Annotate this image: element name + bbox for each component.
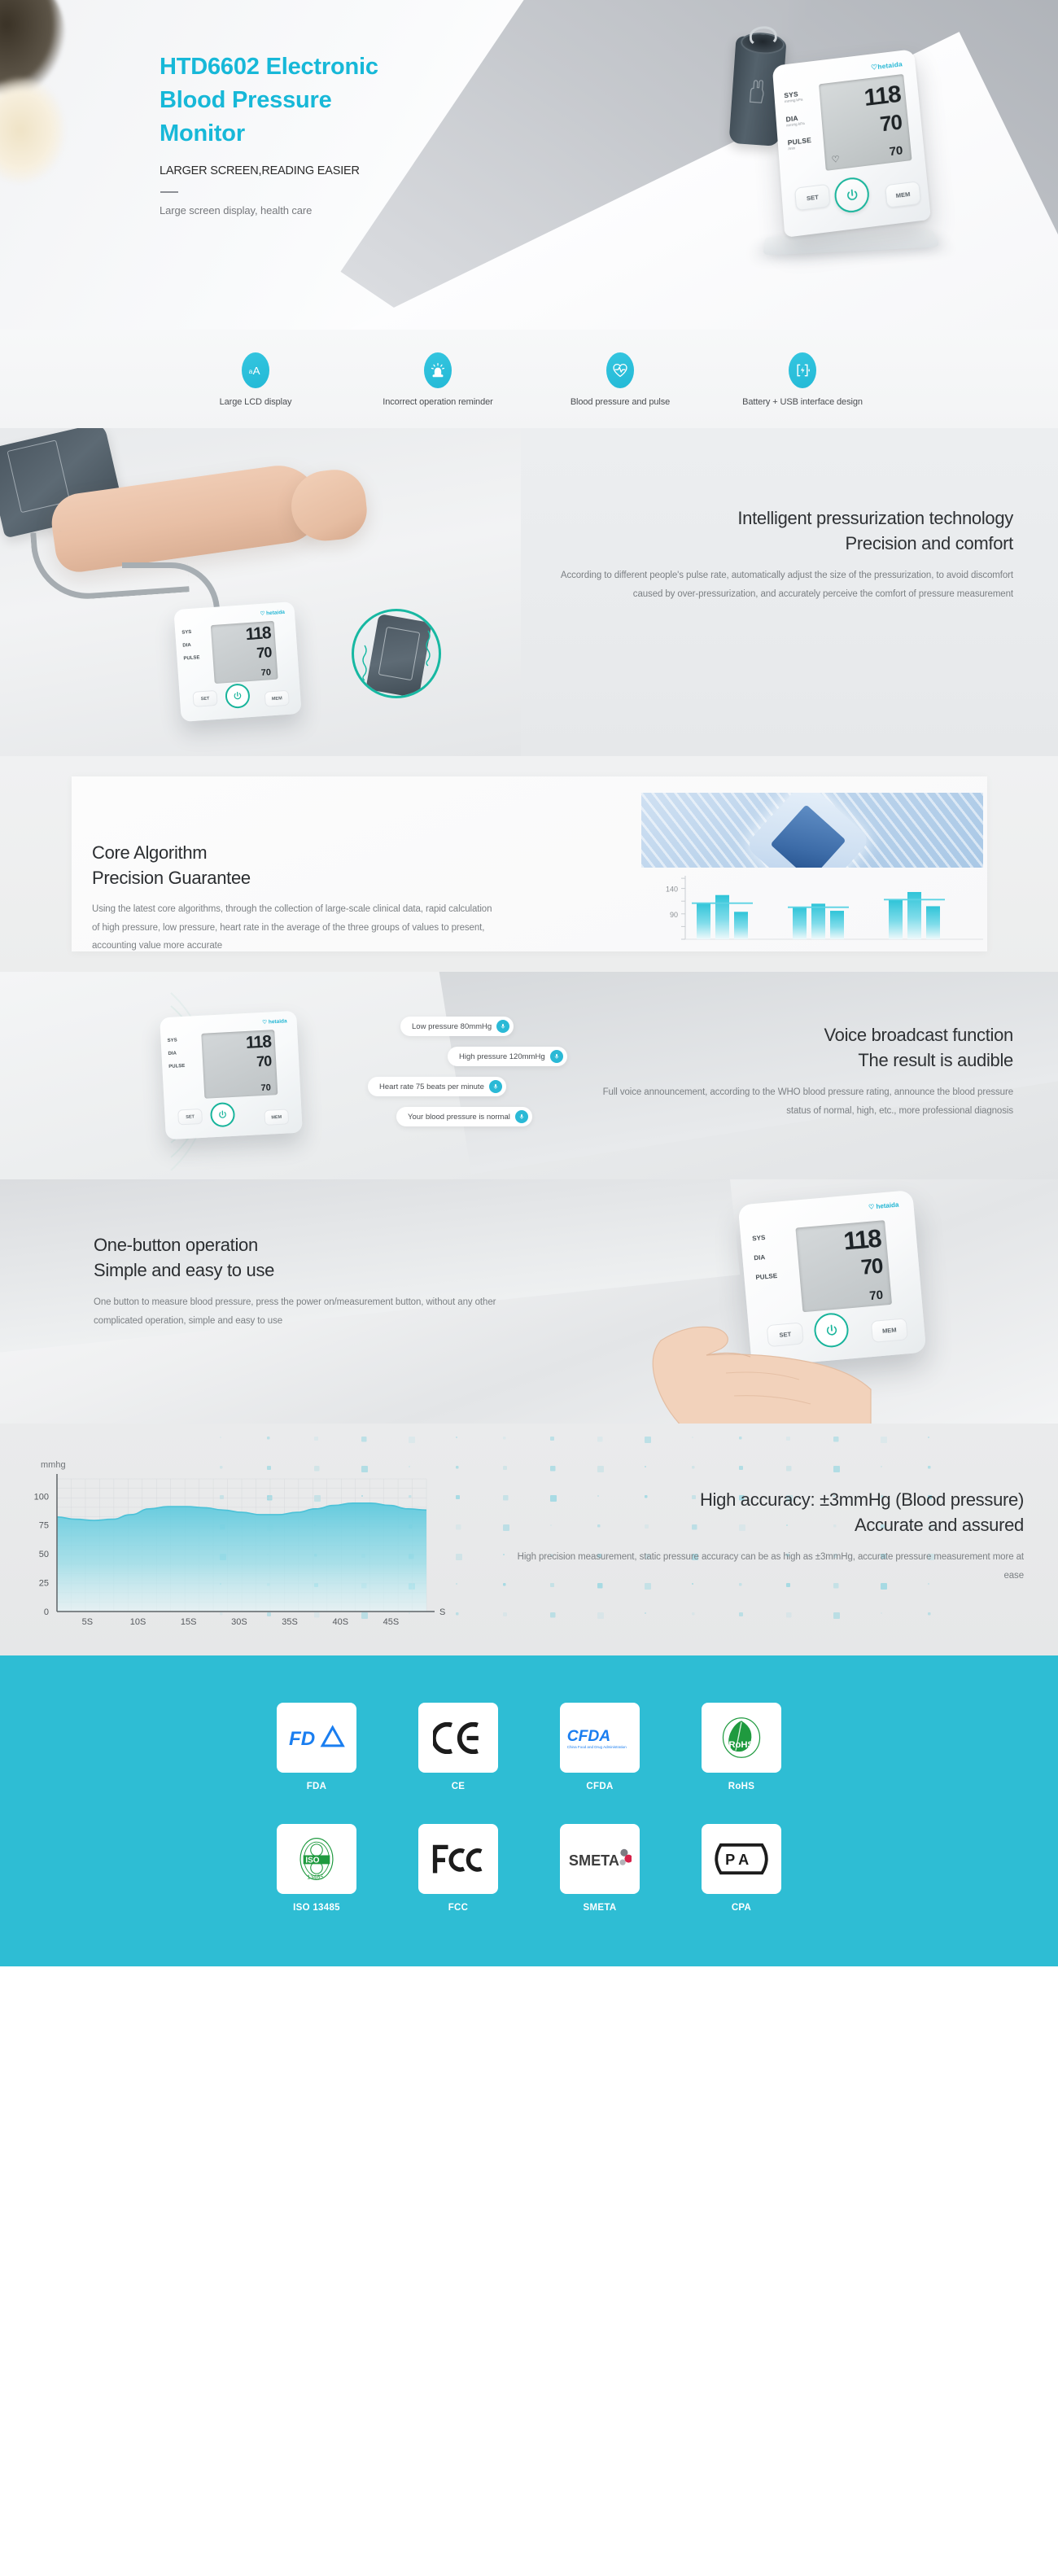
- section-heading-line1: Intelligent pressurization technology: [557, 505, 1013, 531]
- power-button[interactable]: [210, 1102, 236, 1128]
- svg-text:S: S: [439, 1607, 445, 1617]
- sys-label: SYS: [181, 629, 198, 635]
- svg-text:15S: 15S: [181, 1617, 197, 1627]
- certification-label: CPA: [696, 1903, 787, 1913]
- feature-label: Battery + USB interface design: [711, 397, 894, 407]
- svg-text:45S: 45S: [383, 1617, 400, 1627]
- section-heading-line2: The result is audible: [590, 1047, 1013, 1073]
- dia-label: DIA: [168, 1051, 184, 1056]
- hero-divider: [160, 191, 178, 193]
- voice-bubble: Your blood pressure is normal: [396, 1107, 532, 1126]
- dia-label: DIA: [182, 642, 199, 648]
- feature-item-battery: Battery + USB interface design: [711, 352, 894, 407]
- certification-fcc: FCC: [413, 1824, 504, 1913]
- certification-label: ISO 13485: [271, 1903, 362, 1913]
- svg-text:P A: P A: [725, 1852, 749, 1868]
- alarm-siren-icon: [424, 352, 452, 388]
- certification-iso: ISO 13485 ISO 13485: [271, 1824, 362, 1913]
- product-detail-page: HTD6602 Electronic Blood Pressure Monito…: [0, 0, 1058, 1966]
- svg-text:CFDA: CFDA: [567, 1728, 610, 1745]
- power-button[interactable]: [833, 176, 871, 215]
- fcc-logo: [418, 1824, 498, 1894]
- cfda-sublabel: China Food and Drug Administration: [567, 1744, 627, 1748]
- text-size-icon: a A: [242, 352, 269, 388]
- sys-label-group: SYS mmHg kPa: [784, 87, 820, 104]
- dia-value: 70: [879, 110, 903, 138]
- arm-cuff-photo: ♡ hetaida SYS DIA PULSE 118 70 70 SET: [0, 428, 521, 756]
- certification-rohs: RoHS RoHS: [696, 1703, 787, 1791]
- device-button-row: SET MEM: [794, 168, 918, 221]
- certification-label: FDA: [271, 1782, 362, 1791]
- cfda-logo: CFDA China Food and Drug Administration: [560, 1703, 640, 1773]
- brand-logo: ♡ hetaida: [260, 609, 285, 617]
- svg-text:A: A: [253, 365, 260, 377]
- one-button-text: One-button operation Simple and easy to …: [94, 1232, 517, 1330]
- feature-item-reminder: Incorrect operation reminder: [347, 352, 529, 407]
- power-icon: [217, 1109, 228, 1120]
- feature-item-lcd: a A Large LCD display: [164, 352, 347, 407]
- core-algorithm-text: Core Algorithm Precision Guarantee Using…: [92, 840, 499, 956]
- certification-label: SMETA: [554, 1903, 645, 1913]
- cuff-closeup-inset: [352, 609, 441, 698]
- svg-text:RoHS: RoHS: [728, 1740, 754, 1750]
- svg-text:35S: 35S: [282, 1617, 298, 1627]
- section-heading-line2: Precision Guarantee: [92, 865, 499, 890]
- pulse-label-group: PULSE /min: [787, 135, 824, 152]
- lcd-side-labels: SYS mmHg kPa DIA mmHg kPa PULSE /min: [784, 87, 825, 163]
- mem-button[interactable]: MEM: [264, 690, 290, 707]
- dia-label: DIA: [754, 1253, 776, 1262]
- smeta-logo: SMETA: [560, 1824, 640, 1894]
- rohs-logo: RoHS: [702, 1703, 781, 1773]
- dia-label-group: DIA mmHg kPa: [785, 111, 822, 128]
- iso-sublabel: 13485: [307, 1873, 323, 1880]
- certification-row-1: FD FDA CE CF: [0, 1703, 1058, 1791]
- accuracy-section: mmhg02550751005S10S15S30S35S40S45SS High…: [0, 1424, 1058, 1655]
- section-heading-line2: Simple and easy to use: [94, 1257, 517, 1283]
- vibration-wave-icon: [361, 644, 369, 681]
- svg-text:FD: FD: [289, 1728, 315, 1750]
- dia-value: 70: [256, 1052, 272, 1070]
- battery-charge-icon: [789, 352, 816, 388]
- lcd-side-labels: SYS DIA PULSE: [168, 1038, 186, 1078]
- pulse-value: 70: [260, 667, 271, 678]
- certification-ce: CE: [413, 1703, 504, 1791]
- pointing-hand-image: [636, 1292, 872, 1424]
- certifications-section: FD FDA CE CF: [0, 1655, 1058, 1966]
- svg-text:mmhg: mmhg: [41, 1460, 66, 1470]
- dia-value: 70: [256, 644, 272, 662]
- svg-text:40S: 40S: [332, 1617, 348, 1627]
- vibration-wave-icon: [424, 629, 432, 667]
- heart-pulse-icon: [606, 352, 634, 388]
- brand-logo: ♡hetaida: [871, 60, 903, 72]
- svg-text:50: 50: [39, 1550, 49, 1559]
- feature-label: Incorrect operation reminder: [347, 397, 529, 407]
- accuracy-text: High accuracy: ±3mmHg (Blood pressure) A…: [503, 1487, 1024, 1585]
- device-button-row: SET MEM: [177, 1099, 289, 1131]
- cuff-hand-icon: [745, 79, 767, 105]
- sys-value: 118: [863, 81, 902, 112]
- section-heading-line1: One-button operation: [94, 1232, 517, 1257]
- svg-text:10S: 10S: [130, 1617, 146, 1627]
- voice-bubble-list: Low pressure 80mmHg High pressure 120mmH…: [368, 1017, 567, 1137]
- section-body: According to different people's pulse ra…: [557, 566, 1013, 603]
- section-body: Full voice announcement, according to th…: [590, 1083, 1013, 1120]
- pulse-label: PULSE: [168, 1064, 185, 1069]
- sys-value: 118: [245, 623, 271, 645]
- svg-text:ISO: ISO: [305, 1857, 319, 1865]
- dia-value: 70: [860, 1253, 884, 1280]
- core-algorithm-section: Core Algorithm Precision Guarantee Using…: [0, 756, 1058, 972]
- voice-monitor-device: ♡ hetaida SYS DIA PULSE 118 70 70 SET: [163, 1014, 305, 1144]
- microphone-icon: [489, 1080, 502, 1093]
- cuff-closeup: [365, 614, 431, 698]
- voice-broadcast-text: Voice broadcast function The result is a…: [590, 1022, 1013, 1120]
- pressurization-section: ♡ hetaida SYS DIA PULSE 118 70 70 SET: [0, 428, 1058, 756]
- one-button-section: One-button operation Simple and easy to …: [0, 1179, 1058, 1424]
- cpa-logo: P A: [702, 1824, 781, 1894]
- certification-label: CFDA: [554, 1782, 645, 1791]
- section-heading-line1: High accuracy: ±3mmHg (Blood pressure): [503, 1487, 1024, 1512]
- power-icon: [844, 187, 859, 203]
- svg-text:SMETA: SMETA: [569, 1852, 619, 1868]
- set-button[interactable]: SET: [177, 1109, 203, 1126]
- microphone-icon: [550, 1050, 563, 1063]
- blood-pressure-monitor: ♡hetaida SYS mmHg kPa DIA mmHg kPa PULSE…: [772, 49, 931, 238]
- monitor-device-small: ♡ hetaida SYS DIA PULSE 118 70 70 SET: [160, 1011, 303, 1140]
- svg-text:30S: 30S: [231, 1617, 247, 1627]
- feature-label: Blood pressure and pulse: [529, 397, 711, 407]
- voice-bubble-text: Low pressure 80mmHg: [412, 1022, 492, 1031]
- svg-text:5S: 5S: [82, 1617, 93, 1627]
- voice-bubble: Low pressure 80mmHg: [400, 1017, 514, 1036]
- lcd-screen: 118 70 70: [211, 621, 278, 684]
- voice-broadcast-section: ♡ hetaida SYS DIA PULSE 118 70 70 SET: [0, 972, 1058, 1179]
- certification-cpa: P A CPA: [696, 1824, 787, 1913]
- ce-logo: [418, 1703, 498, 1773]
- feature-icons-strip: a A Large LCD display Incorrect operatio…: [0, 330, 1058, 428]
- pulse-value: 70: [889, 143, 903, 159]
- svg-text:75: 75: [39, 1521, 49, 1531]
- section-body: Using the latest core algorithms, throug…: [92, 900, 499, 955]
- sys-value: 118: [245, 1032, 271, 1053]
- sys-value: 118: [842, 1224, 881, 1257]
- certification-label: FCC: [413, 1903, 504, 1913]
- hero-device-image: ♡hetaida SYS mmHg kPa DIA mmHg kPa PULSE…: [723, 33, 983, 269]
- lcd-screen: 118 70 ♡ 70: [819, 74, 912, 171]
- certification-cfda: CFDA China Food and Drug Administration …: [554, 1703, 645, 1791]
- certification-label: RoHS: [696, 1782, 787, 1791]
- pulse-value: 70: [260, 1082, 271, 1093]
- section-heading-line1: Voice broadcast function: [590, 1022, 1013, 1047]
- pulse-label: PULSE: [755, 1272, 777, 1281]
- set-button[interactable]: SET: [192, 690, 217, 707]
- certification-smeta: SMETA SMETA: [554, 1824, 645, 1913]
- pressurization-text: Intelligent pressurization technology Pr…: [557, 505, 1013, 603]
- power-icon: [233, 691, 243, 702]
- section-heading-line1: Core Algorithm: [92, 840, 499, 865]
- chip-photo: [641, 793, 983, 868]
- section-heading-line2: Precision and comfort: [557, 531, 1013, 556]
- core-algorithm-card: Core Algorithm Precision Guarantee Using…: [72, 776, 987, 951]
- page-title: HTD6602 Electronic Blood Pressure Monito…: [160, 50, 404, 151]
- area-chart: mmhg02550751005S10S15S30S35S40S45SS: [18, 1441, 457, 1641]
- voice-bubble: High pressure 120mmHg: [448, 1047, 567, 1066]
- certification-fda: FD FDA: [271, 1703, 362, 1791]
- device-button-row: SET MEM: [192, 680, 290, 713]
- brand-logo: ♡ hetaida: [868, 1201, 899, 1211]
- fda-logo: FD: [277, 1703, 356, 1773]
- microphone-icon: [515, 1110, 528, 1123]
- mem-button[interactable]: MEM: [885, 181, 921, 208]
- voice-bubble-text: Your blood pressure is normal: [408, 1113, 510, 1122]
- feature-label: Large LCD display: [164, 397, 347, 407]
- svg-text:25: 25: [39, 1579, 49, 1589]
- mem-button[interactable]: MEM: [264, 1109, 289, 1126]
- svg-text:90: 90: [670, 911, 678, 919]
- set-button[interactable]: SET: [794, 184, 830, 212]
- iso-logo: ISO 13485: [277, 1824, 356, 1894]
- monitor-device-small: ♡ hetaida SYS DIA PULSE 118 70 70 SET: [173, 601, 301, 722]
- mem-button[interactable]: MEM: [871, 1318, 908, 1343]
- microphone-icon: [496, 1020, 509, 1033]
- voice-bubble: Heart rate 75 beats per minute: [368, 1077, 506, 1096]
- power-button[interactable]: [225, 683, 251, 709]
- section-body: One button to measure blood pressure, pr…: [94, 1293, 517, 1330]
- hero-subtitle: LARGER SCREEN,READING EASIER: [160, 164, 404, 177]
- svg-text:100: 100: [34, 1492, 49, 1502]
- heart-icon: ♡: [831, 154, 840, 165]
- pulse-label: PULSE: [183, 655, 199, 661]
- hero-decor-blob-2: [0, 77, 65, 183]
- feature-item-pulse: Blood pressure and pulse: [529, 352, 711, 407]
- hero-section: HTD6602 Electronic Blood Pressure Monito…: [0, 0, 1058, 330]
- lcd-side-labels: SYS DIA PULSE: [181, 629, 200, 669]
- lcd-screen: 118 70 70: [201, 1030, 278, 1099]
- processor-chip: [745, 793, 871, 868]
- section-heading-line2: Accurate and assured: [503, 1512, 1024, 1537]
- sys-label: SYS: [168, 1038, 184, 1043]
- voice-bubble-text: High pressure 120mmHg: [459, 1052, 545, 1061]
- certification-label: CE: [413, 1782, 504, 1791]
- svg-text:0: 0: [44, 1607, 49, 1617]
- bar-chart: 90140: [641, 873, 983, 946]
- brand-logo: ♡ hetaida: [262, 1017, 287, 1026]
- air-tube-2: [122, 562, 220, 611]
- svg-text:140: 140: [666, 886, 678, 894]
- voice-bubble-text: Heart rate 75 beats per minute: [379, 1082, 484, 1091]
- sys-label: SYS: [752, 1233, 774, 1242]
- hero-text-block: HTD6602 Electronic Blood Pressure Monito…: [160, 50, 404, 216]
- lcd-side-labels: SYS DIA PULSE: [752, 1233, 779, 1293]
- section-body: High precision measurement, static press…: [503, 1548, 1024, 1585]
- certification-row-2: ISO 13485 ISO 13485 FCC: [0, 1824, 1058, 1913]
- hero-tagline: Large screen display, health care: [160, 204, 404, 216]
